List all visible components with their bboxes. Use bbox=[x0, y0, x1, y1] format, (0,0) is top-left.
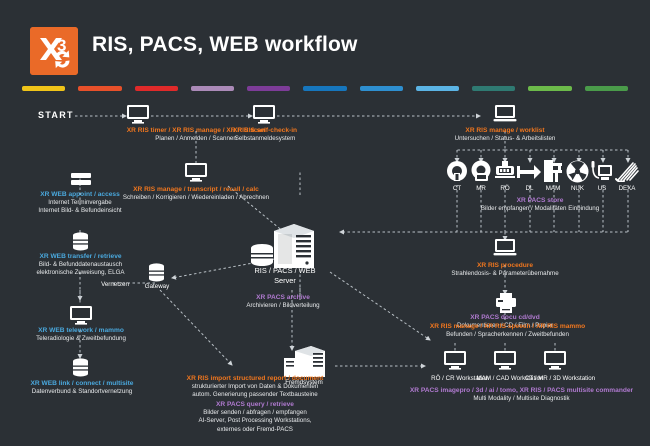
node-subtitle: Internet Bild- & Befundeinsicht bbox=[10, 207, 150, 215]
mammography-icon bbox=[542, 160, 564, 182]
server-caption-line: Server bbox=[240, 276, 330, 286]
laptop-computer-icon bbox=[493, 238, 517, 258]
desktop-computer-icon bbox=[69, 305, 93, 327]
server-rack-icon bbox=[70, 172, 92, 186]
node-subtitle: Selbstanmeldesystem bbox=[204, 135, 326, 143]
node-subtitle: Befunden / Spracherkennen / Zweitbefunde… bbox=[400, 331, 615, 339]
node-heading: XR RIS self-check-in bbox=[204, 126, 326, 135]
workstation-footer-line: XR PACS imagepro / 3d / ai / tomo, XR RI… bbox=[395, 386, 648, 395]
import-line: strukturierter Import von Daten & Dokume… bbox=[140, 383, 370, 391]
node-ris-selfcheckin: XR RIS self-check-in Selbstanmeldesystem bbox=[204, 126, 326, 143]
workstation-footer-line: Multi Modality / Multisite Diagnostik bbox=[395, 395, 648, 403]
node-web-appoint: XR WEB appoint / access Internet Terminv… bbox=[10, 190, 150, 216]
node-subtitle: Strahlendosis- & Parameterübernahme bbox=[428, 270, 582, 278]
import-text-block: XR RIS import structured report / docume… bbox=[140, 374, 370, 434]
desktop-computer-icon bbox=[184, 162, 208, 184]
node-heading: XR WEB link / connect / multisite bbox=[7, 379, 157, 388]
dexa-bone-icon bbox=[615, 160, 639, 182]
node-web-link: XR WEB link / connect / multisite Datenv… bbox=[7, 379, 157, 396]
color-strip-segment bbox=[303, 86, 346, 91]
node-subtitle: Bild- & Befunddatenaustausch bbox=[8, 261, 153, 269]
printer-icon bbox=[495, 292, 517, 314]
nuclear-radiation-icon bbox=[566, 160, 589, 183]
start-label: START bbox=[38, 110, 74, 120]
color-strip-segment bbox=[247, 86, 290, 91]
node-heading: XR WEB appoint / access bbox=[10, 190, 150, 199]
color-strip-segment bbox=[22, 86, 65, 91]
desktop-computer-icon bbox=[126, 104, 150, 124]
xray-tube-icon bbox=[493, 161, 517, 182]
desktop-computer-icon bbox=[443, 350, 467, 372]
node-subtitle: elektronische Zuweisung, ELGA bbox=[8, 269, 153, 277]
gateway-label: Gateway bbox=[129, 283, 185, 290]
node-web-telework: XR WEB telework / mammo Teleradiologie &… bbox=[13, 326, 149, 343]
node-web-transfer: XR WEB transfer / retrieve Bild- & Befun… bbox=[8, 252, 153, 278]
workstation-label: CT / MR / 3D Workstation bbox=[510, 375, 610, 382]
node-heading: XR RIS manage / worklist bbox=[433, 126, 577, 135]
node-pacs-store: XR PACS store Bilder empfangen / Modalit… bbox=[440, 196, 640, 213]
node-subtitle: Archivieren / Bildverteilung bbox=[218, 302, 348, 310]
node-subtitle: Bilder empfangen / Modalitäten Einbindun… bbox=[440, 205, 640, 213]
node-heading: XR RIS procedure bbox=[428, 261, 582, 270]
database-icon bbox=[148, 263, 165, 283]
modality-label: NUK bbox=[566, 185, 589, 192]
database-icon bbox=[72, 232, 89, 252]
node-heading: XR WEB transfer / retrieve bbox=[8, 252, 153, 261]
color-strip-segment bbox=[78, 86, 121, 91]
laptop-computer-icon bbox=[493, 104, 517, 124]
import-line: Bilder senden / abfragen / empfangen bbox=[140, 409, 370, 417]
node-subtitle: Teleradiologie & Zweitbefundung bbox=[13, 335, 149, 343]
desktop-computer-icon bbox=[252, 104, 276, 124]
node-subtitle: Internet Terminvergabe bbox=[10, 199, 150, 207]
server-tower-icon bbox=[248, 222, 318, 272]
fluoroscopy-icon bbox=[517, 164, 542, 180]
node-ris-worklist: XR RIS manage / worklist Untersuchen / S… bbox=[433, 126, 577, 143]
node-heading: XR WEB telework / mammo bbox=[13, 326, 149, 335]
color-strip-segment bbox=[191, 86, 234, 91]
mr-scanner-icon bbox=[469, 160, 493, 182]
modality-label: DEXA bbox=[615, 185, 639, 192]
node-heading: XR RIS manage / XR RIS speech / XR RIS m… bbox=[400, 322, 615, 331]
modality-label: MAM bbox=[541, 185, 565, 192]
server-caption: RIS / PACS / WEB Server bbox=[240, 266, 330, 286]
import-line: XR RIS import structured report / docume… bbox=[140, 374, 370, 383]
import-line: autom. Generierung passender Textbaustei… bbox=[140, 391, 370, 399]
page-title: RIS, PACS, WEB workflow bbox=[92, 33, 358, 57]
node-heading: XR PACS archive bbox=[218, 293, 348, 302]
modality-label: US bbox=[591, 185, 613, 192]
ct-scanner-icon bbox=[445, 160, 469, 182]
import-line: AI-Server, Post Processing Workstations, bbox=[140, 417, 370, 425]
database-icon bbox=[72, 358, 89, 378]
modality-label: DL bbox=[517, 185, 542, 192]
modality-label: CT bbox=[445, 185, 469, 192]
node-subtitle: Untersuchen / Status- & Arbeitslisten bbox=[433, 135, 577, 143]
color-strip-segment bbox=[135, 86, 178, 91]
color-strip-segment bbox=[585, 86, 628, 91]
desktop-computer-icon bbox=[543, 350, 567, 372]
color-strip-segment bbox=[472, 86, 515, 91]
import-line: XR PACS query / retrieve bbox=[140, 400, 370, 409]
color-strip-segment bbox=[528, 86, 571, 91]
workflow-diagram: 3 RIS, PACS, WEB workflow bbox=[0, 0, 650, 446]
color-strip-segment bbox=[360, 86, 403, 91]
modality-label: RÖ bbox=[493, 185, 517, 192]
workstation-footer: XR PACS imagepro / 3d / ai / tomo, XR RI… bbox=[395, 386, 648, 403]
color-strip bbox=[22, 86, 628, 92]
server-caption-line: RIS / PACS / WEB bbox=[240, 266, 330, 276]
import-line: externes oder Fremd-PACS bbox=[140, 426, 370, 434]
node-heading: XR PACS docu cd/dvd bbox=[430, 313, 580, 322]
desktop-computer-icon bbox=[493, 350, 517, 372]
ultrasound-icon bbox=[591, 160, 613, 182]
node-pacs-archive: XR PACS archive Archivieren / Bildvertei… bbox=[218, 293, 348, 310]
node-subtitle: Datenverbund & Standortvernetzung bbox=[7, 388, 157, 396]
node-ris-speech: XR RIS manage / XR RIS speech / XR RIS m… bbox=[400, 322, 615, 339]
color-strip-segment bbox=[416, 86, 459, 91]
xr3-cycle-logo: 3 bbox=[30, 27, 78, 75]
node-heading: XR PACS store bbox=[440, 196, 640, 205]
node-ris-procedure: XR RIS procedure Strahlendosis- & Parame… bbox=[428, 261, 582, 278]
modality-label: MR bbox=[469, 185, 493, 192]
